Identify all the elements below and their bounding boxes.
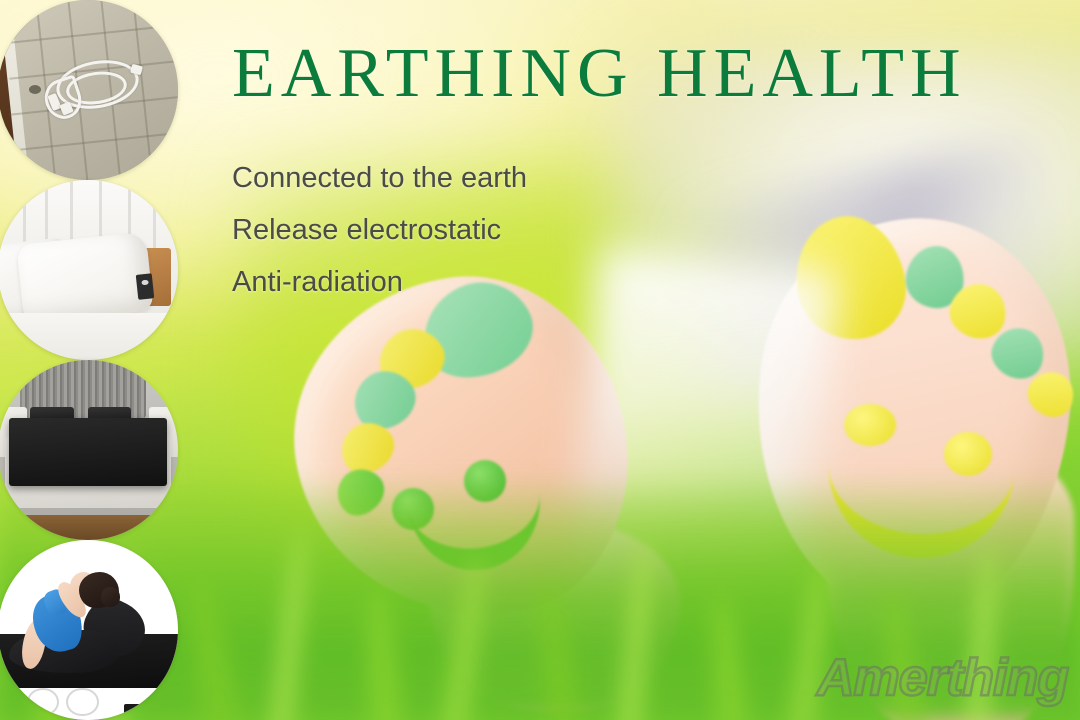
thumbnail-grounding-bed-sheet[interactable] [0,360,178,540]
brand-watermark: Amerthing [817,648,1068,708]
feature-item-release-electrostatic: Release electrostatic [232,204,527,256]
feature-item-anti-radiation: Anti-radiation [232,256,527,308]
product-thumbnail-column [0,0,190,720]
right-foot-smiley-eye-left [844,404,896,446]
thumbnail-grounding-pillowcase[interactable] [0,180,178,360]
feature-item-connected-to-the-earth: Connected to the earth [232,152,527,204]
thumbnail-grounding-yoga-mat[interactable] [0,540,178,720]
page-title: EARTHING HEALTH [232,34,967,114]
feature-list: Connected to the earth Release electrost… [232,152,527,308]
earthing-health-banner: EARTHING HEALTH Connected to the earth R… [0,0,1080,720]
thumbnail-grounding-mattress-pad[interactable] [0,0,178,180]
